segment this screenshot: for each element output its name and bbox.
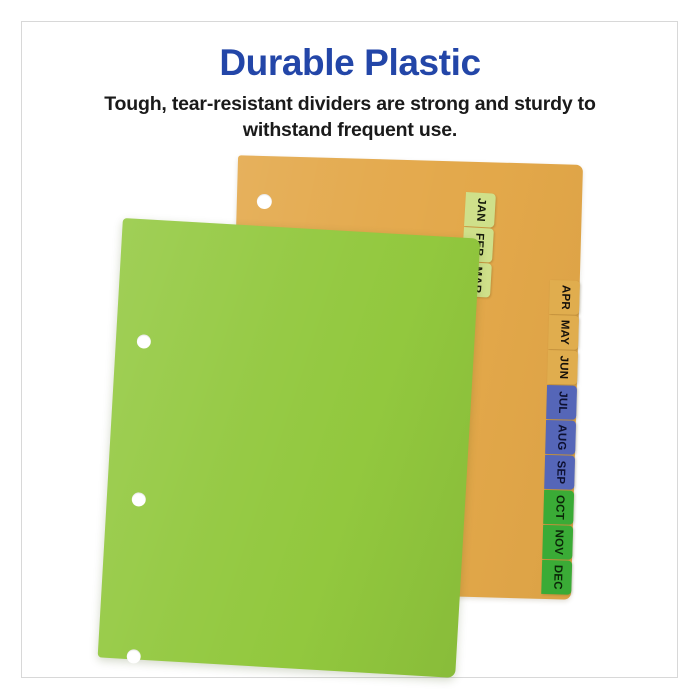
green-divider-sheen xyxy=(98,218,481,678)
tab-dec-label: DEC xyxy=(551,565,563,590)
tab-oct[interactable]: OCT xyxy=(543,490,574,525)
tab-aug-label: AUG xyxy=(554,424,566,450)
product-image-canvas: Durable Plastic Tough, tear-resistant di… xyxy=(0,0,700,700)
tab-dec[interactable]: DEC xyxy=(541,560,572,595)
tab-jan-label: JAN xyxy=(474,198,487,222)
tab-jan[interactable]: JAN xyxy=(464,192,496,228)
tab-nov-label: NOV xyxy=(552,529,564,555)
tab-apr-label: APR xyxy=(558,285,570,310)
product-photo: APR MAY JUN JUL AUG SEP OCT NOV xyxy=(22,150,678,678)
tab-jun[interactable]: JUN xyxy=(547,350,578,385)
tab-sep[interactable]: SEP xyxy=(544,455,575,490)
tab-oct-label: OCT xyxy=(553,495,565,520)
tab-aug[interactable]: AUG xyxy=(545,420,576,455)
tab-nov[interactable]: NOV xyxy=(542,525,573,560)
headline-block: Durable Plastic Tough, tear-resistant di… xyxy=(0,44,700,144)
tab-jun-label: JUN xyxy=(556,355,568,379)
tab-jul-label: JUL xyxy=(556,391,568,414)
tab-may-label: MAY xyxy=(557,320,569,345)
orange-divider-tab-column: APR MAY JUN JUL AUG SEP OCT NOV xyxy=(541,280,586,596)
tab-may[interactable]: MAY xyxy=(548,315,579,350)
green-divider-sheet xyxy=(98,218,481,678)
tab-jul[interactable]: JUL xyxy=(546,385,577,420)
hole-punch-icon xyxy=(126,649,141,664)
tab-sep-label: SEP xyxy=(554,460,566,484)
page-title: Durable Plastic xyxy=(0,44,700,83)
page-subtitle: Tough, tear-resistant dividers are stron… xyxy=(60,92,640,144)
tab-apr[interactable]: APR xyxy=(549,280,580,315)
